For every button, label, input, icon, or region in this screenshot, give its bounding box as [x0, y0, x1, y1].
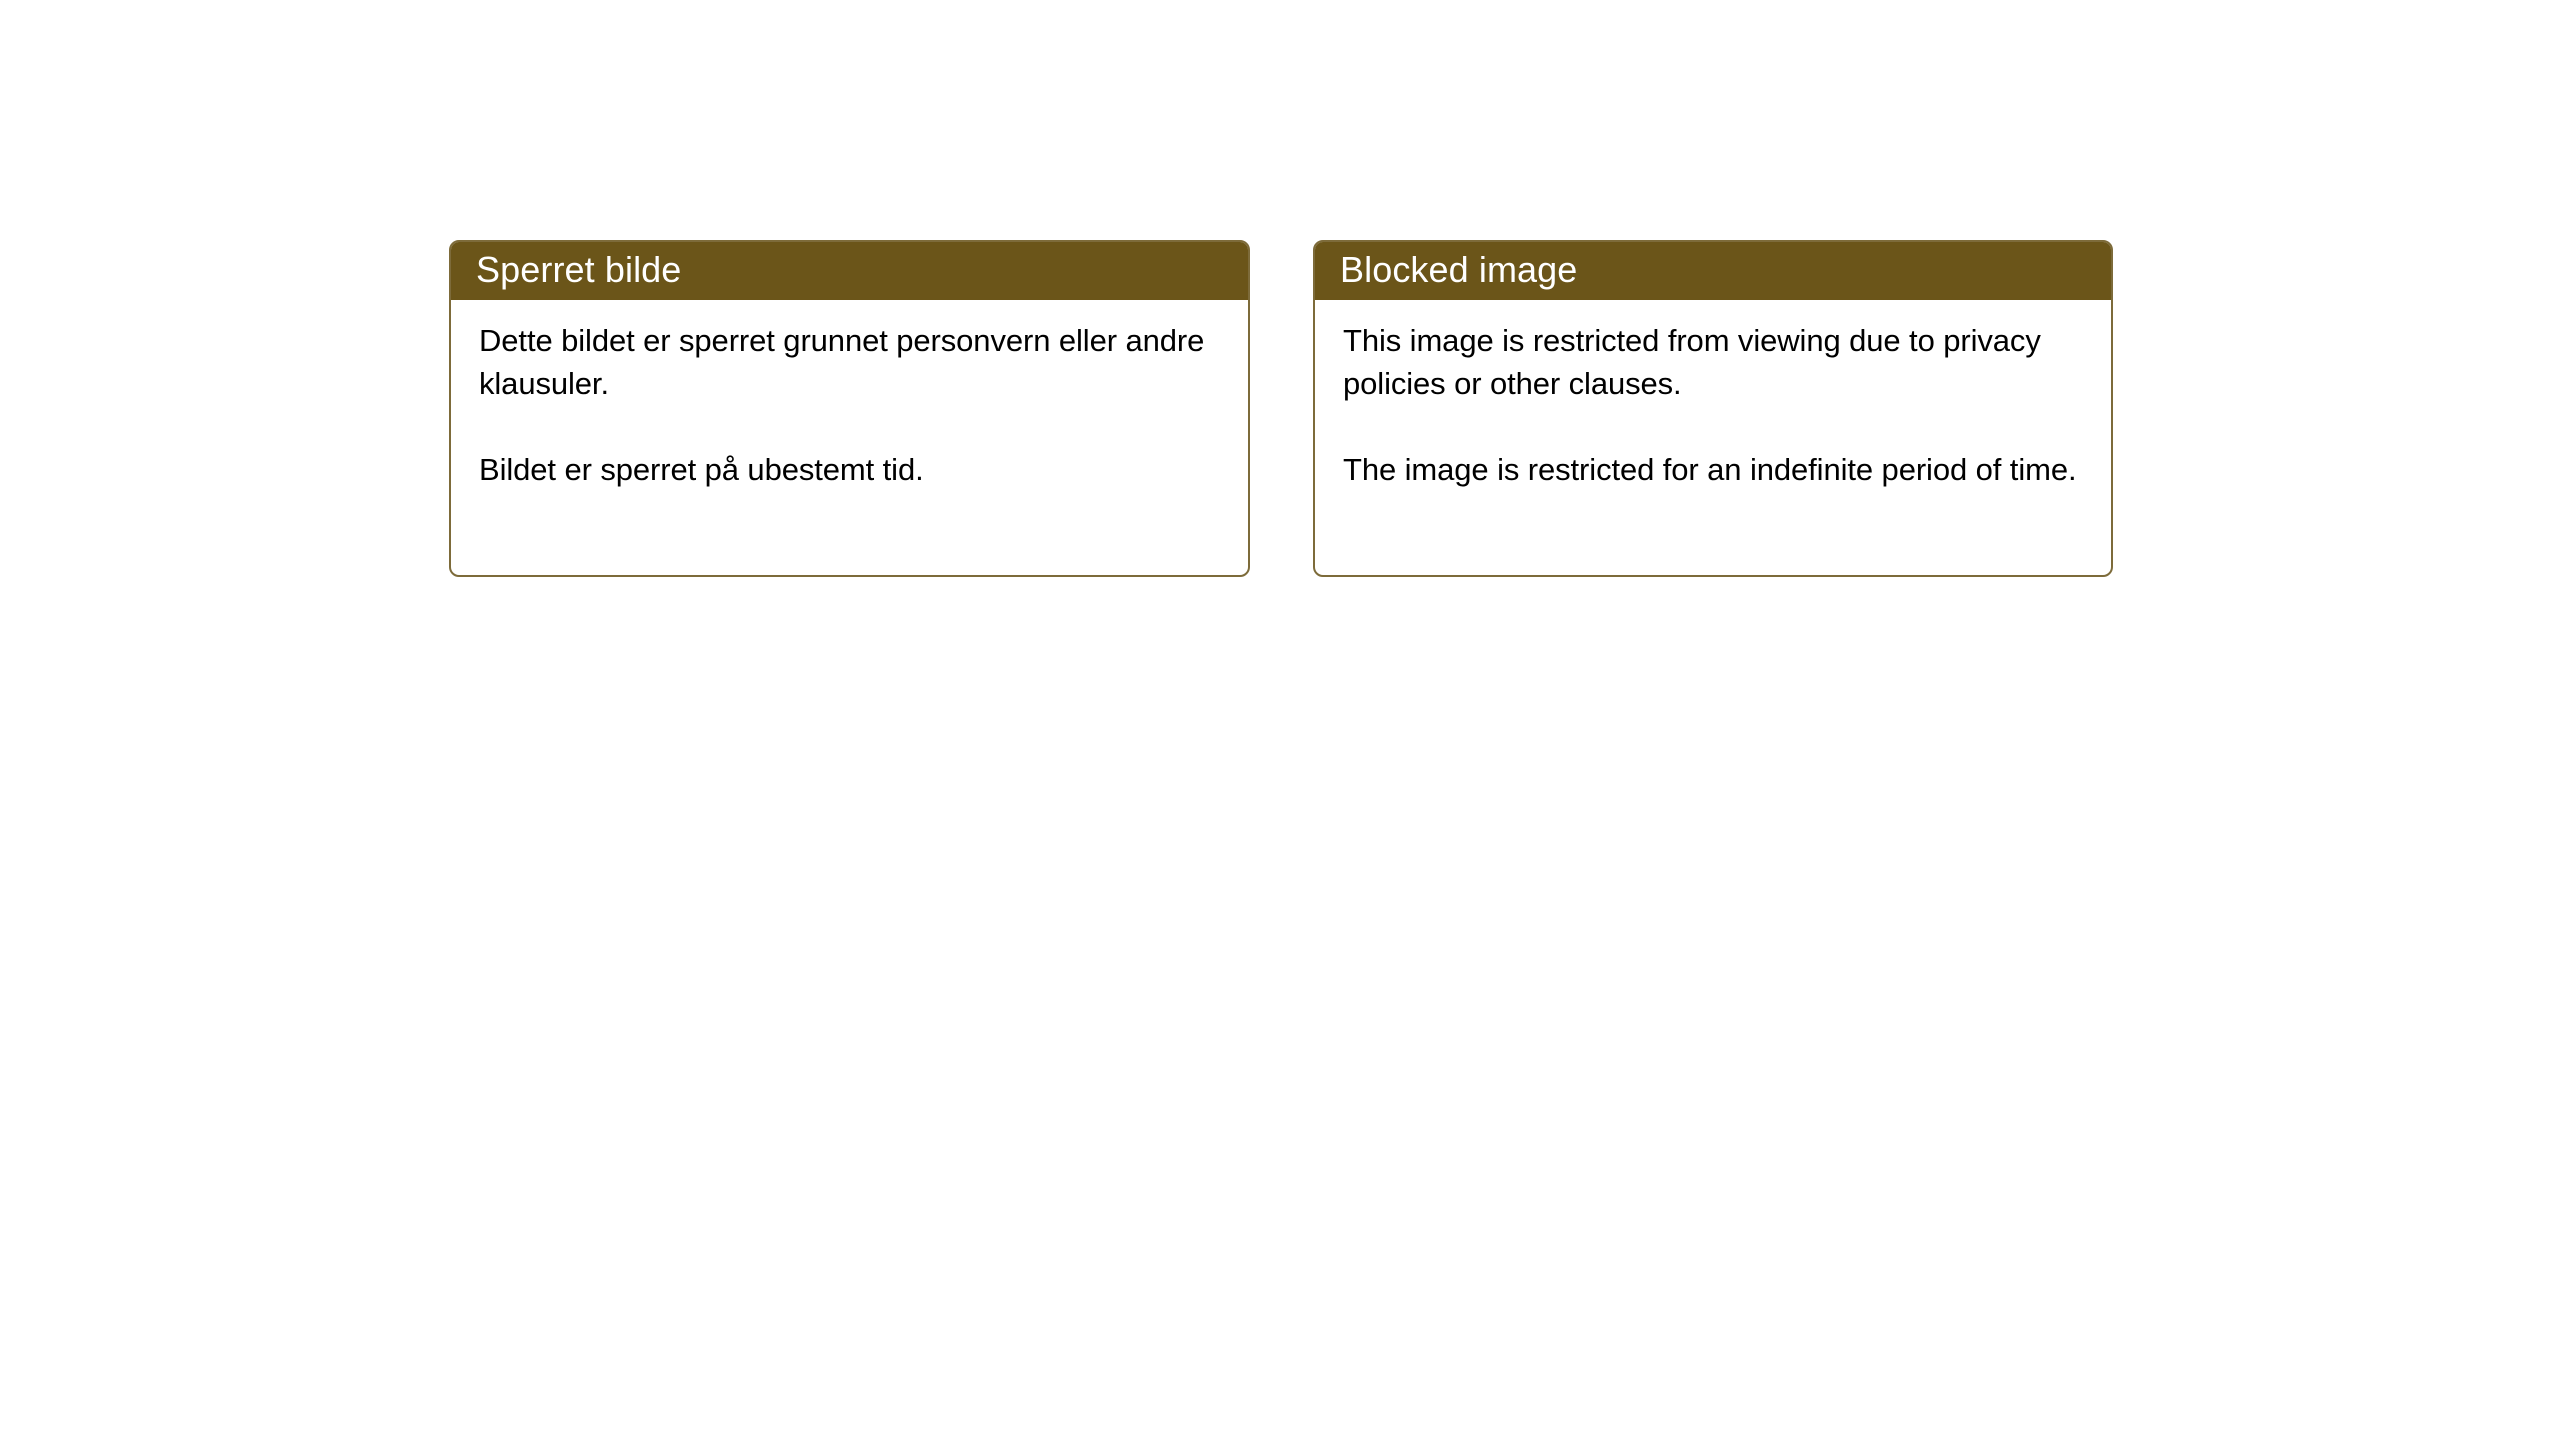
page-canvas: Sperret bilde Dette bildet er sperret gr… — [0, 0, 2560, 1440]
notice-paragraph-duration-english: The image is restricted for an indefinit… — [1343, 448, 2087, 491]
paragraph-spacer — [479, 405, 1224, 448]
notice-paragraph-reason-english: This image is restricted from viewing du… — [1343, 319, 2087, 405]
blocked-image-notice-card-norwegian: Sperret bilde Dette bildet er sperret gr… — [449, 240, 1250, 577]
notice-title-norwegian: Sperret bilde — [476, 250, 681, 290]
notice-paragraph-reason-norwegian: Dette bildet er sperret grunnet personve… — [479, 319, 1224, 405]
notice-title-english: Blocked image — [1340, 250, 1577, 290]
notice-body-norwegian: Dette bildet er sperret grunnet personve… — [451, 300, 1248, 491]
notice-paragraph-duration-norwegian: Bildet er sperret på ubestemt tid. — [479, 448, 1224, 491]
notice-card-header-norwegian: Sperret bilde — [449, 240, 1250, 300]
notice-card-header-english: Blocked image — [1313, 240, 2113, 300]
blocked-image-notice-card-english: Blocked image This image is restricted f… — [1313, 240, 2113, 577]
paragraph-spacer — [1343, 405, 2087, 448]
notice-body-english: This image is restricted from viewing du… — [1315, 300, 2111, 491]
